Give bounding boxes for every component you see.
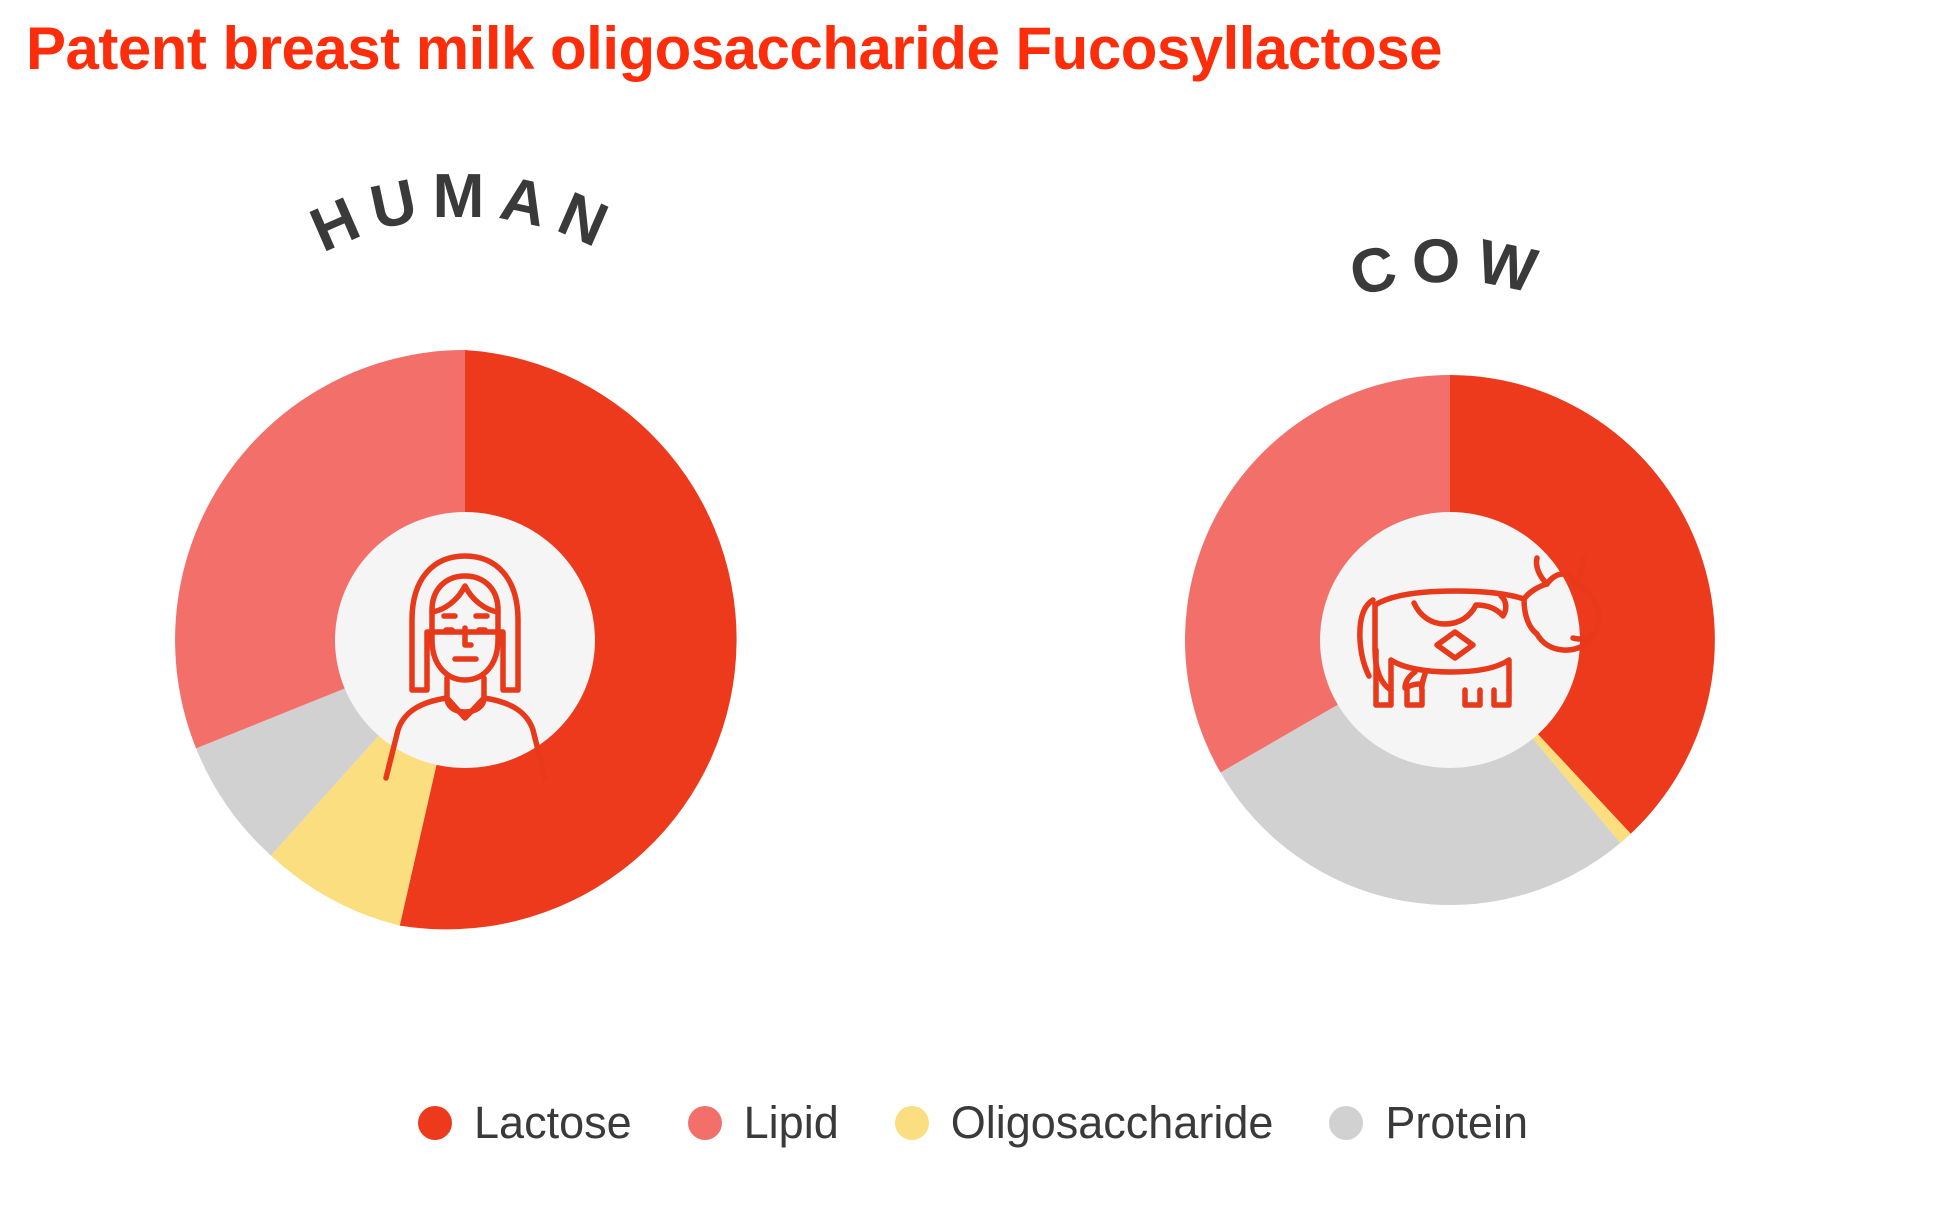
legend-dot-oligosaccharide-icon bbox=[895, 1106, 929, 1140]
charts-container: HUMAN bbox=[0, 0, 1946, 1075]
legend-label-lipid: Lipid bbox=[744, 1098, 839, 1148]
pie-chart-human: HUMAN bbox=[0, 0, 973, 1075]
legend-label-lactose: Lactose bbox=[474, 1098, 632, 1148]
pie-chart-cow: COW bbox=[973, 0, 1946, 1075]
legend-dot-lipid-icon bbox=[688, 1106, 722, 1140]
legend-dot-protein-icon bbox=[1329, 1106, 1363, 1140]
pie-chart-cow-label: COW bbox=[973, 0, 1946, 1075]
legend-item-lactose[interactable]: Lactose bbox=[418, 1098, 632, 1148]
svg-text:HUMAN: HUMAN bbox=[301, 162, 629, 265]
legend-item-protein[interactable]: Protein bbox=[1329, 1098, 1528, 1148]
legend-item-oligosaccharide[interactable]: Oligosaccharide bbox=[895, 1098, 1274, 1148]
legend-label-protein: Protein bbox=[1385, 1098, 1528, 1148]
pie-chart-human-label: HUMAN bbox=[0, 0, 973, 1075]
pie-chart-cow-title: COW bbox=[1344, 226, 1556, 309]
svg-text:COW: COW bbox=[1344, 226, 1556, 309]
legend-dot-lactose-icon bbox=[418, 1106, 452, 1140]
legend-label-oligosaccharide: Oligosaccharide bbox=[951, 1098, 1274, 1148]
legend-item-lipid[interactable]: Lipid bbox=[688, 1098, 839, 1148]
pie-chart-human-title: HUMAN bbox=[301, 162, 629, 265]
chart-legend: Lactose Lipid Oligosaccharide Protein bbox=[0, 1078, 1946, 1168]
